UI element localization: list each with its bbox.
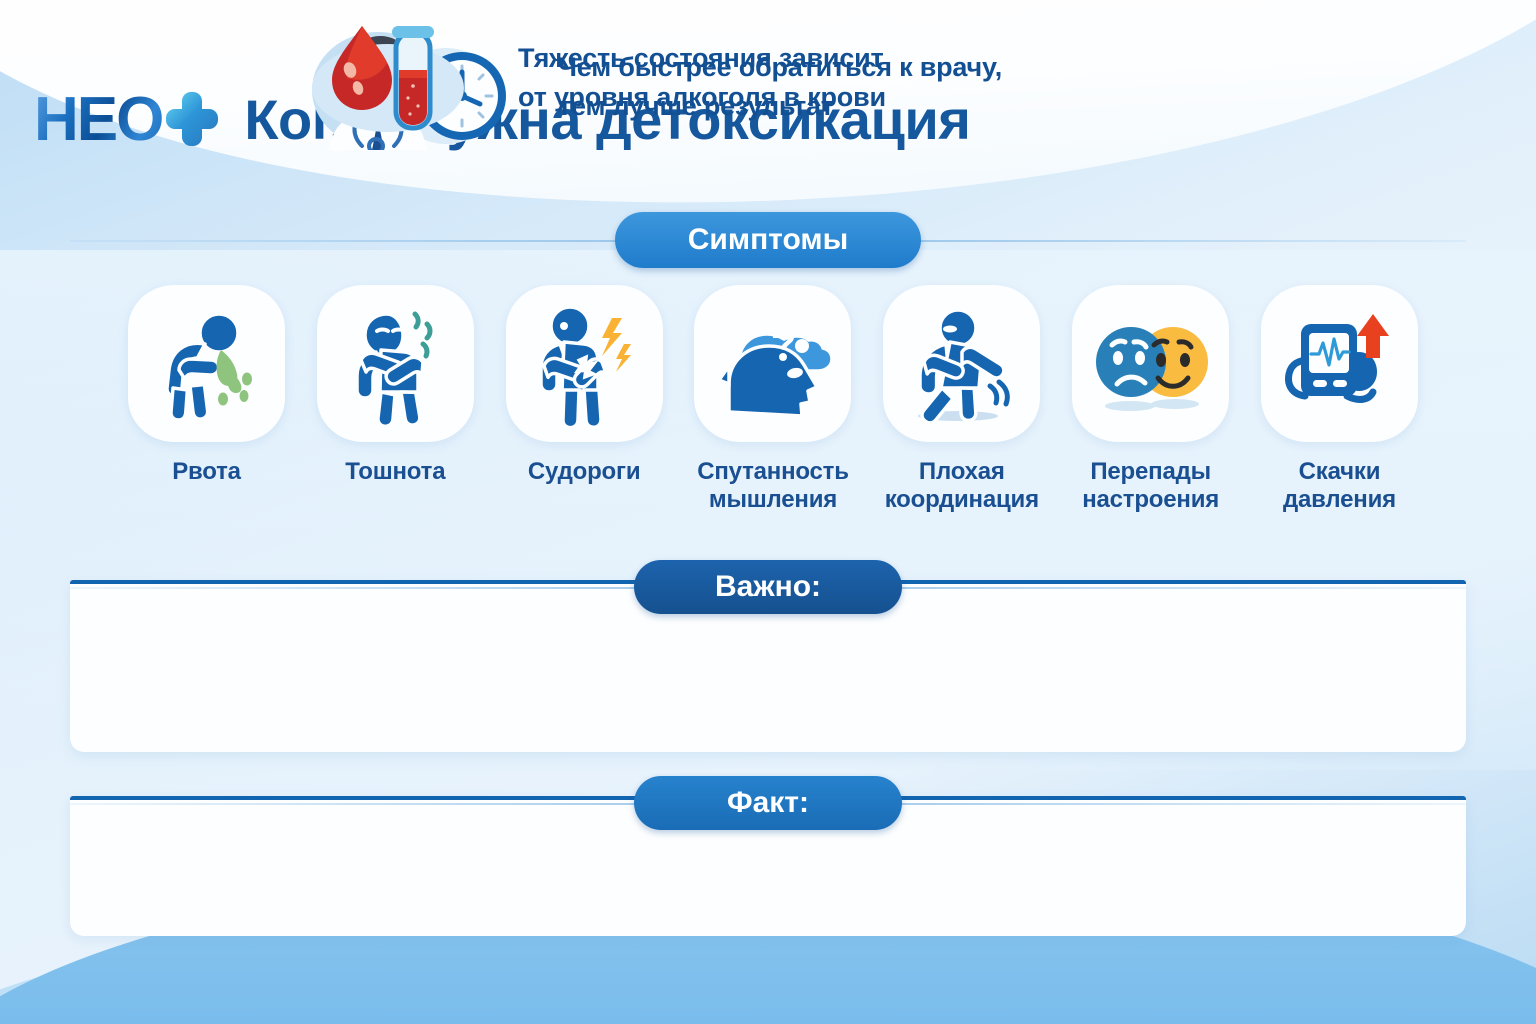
fact-heading-badge: Факт: <box>634 776 902 830</box>
symptoms-heading-badge: Симптомы <box>615 212 921 268</box>
symptom-label: Тошнота <box>345 458 445 486</box>
symptom-label: Плохаякоординация <box>885 458 1039 515</box>
symptom-card <box>1072 285 1229 442</box>
symptom-card <box>883 285 1040 442</box>
poor-coordination-person-icon <box>898 300 1026 428</box>
symptom-label: Спутанностьмышления <box>697 458 849 515</box>
symptom-card <box>506 285 663 442</box>
important-heading-badge: Важно: <box>634 560 902 614</box>
nausea-person-icon <box>331 300 459 428</box>
symptom-item-vomiting[interactable]: Рвота <box>120 285 293 515</box>
symptom-card <box>694 285 851 442</box>
symptom-item-nausea[interactable]: Тошнота <box>309 285 482 515</box>
symptom-item-poor-coordination[interactable]: Плохаякоординация <box>875 285 1048 515</box>
mood-swings-faces-icon <box>1087 300 1215 428</box>
symptoms-section-header: Симптомы <box>0 212 1536 268</box>
symptom-item-blood-pressure[interactable]: Скачкидавления <box>1253 285 1426 515</box>
fact-content: Тяжесть состояния зависит от уровня алко… <box>300 10 886 145</box>
symptom-item-cramps[interactable]: Судороги <box>498 285 671 515</box>
important-section-header: Важно: <box>0 560 1536 614</box>
blood-drop-test-tube-icon <box>300 10 490 145</box>
symptom-label: Судороги <box>528 458 640 486</box>
blood-pressure-monitor-icon <box>1275 300 1403 428</box>
symptom-card <box>128 285 285 442</box>
fact-section-header: Факт: <box>0 776 1536 830</box>
fact-text: Тяжесть состояния зависит от уровня алко… <box>518 39 886 116</box>
symptoms-grid: Рвота <box>120 285 1426 515</box>
brand-logo: HEO <box>34 84 218 155</box>
cramps-person-icon <box>520 300 648 428</box>
logo-text: HEO <box>34 84 162 155</box>
vomiting-person-icon <box>143 300 271 428</box>
symptom-item-confusion[interactable]: Спутанностьмышления <box>686 285 859 515</box>
symptom-label: Перепадынастроения <box>1082 458 1219 515</box>
symptom-item-mood-swings[interactable]: Перепадынастроения <box>1064 285 1237 515</box>
symptom-card <box>317 285 474 442</box>
symptom-label: Скачкидавления <box>1283 458 1396 515</box>
symptom-card <box>1261 285 1418 442</box>
plus-icon <box>166 92 218 146</box>
confused-head-icon <box>709 300 837 428</box>
symptom-label: Рвота <box>172 458 241 486</box>
